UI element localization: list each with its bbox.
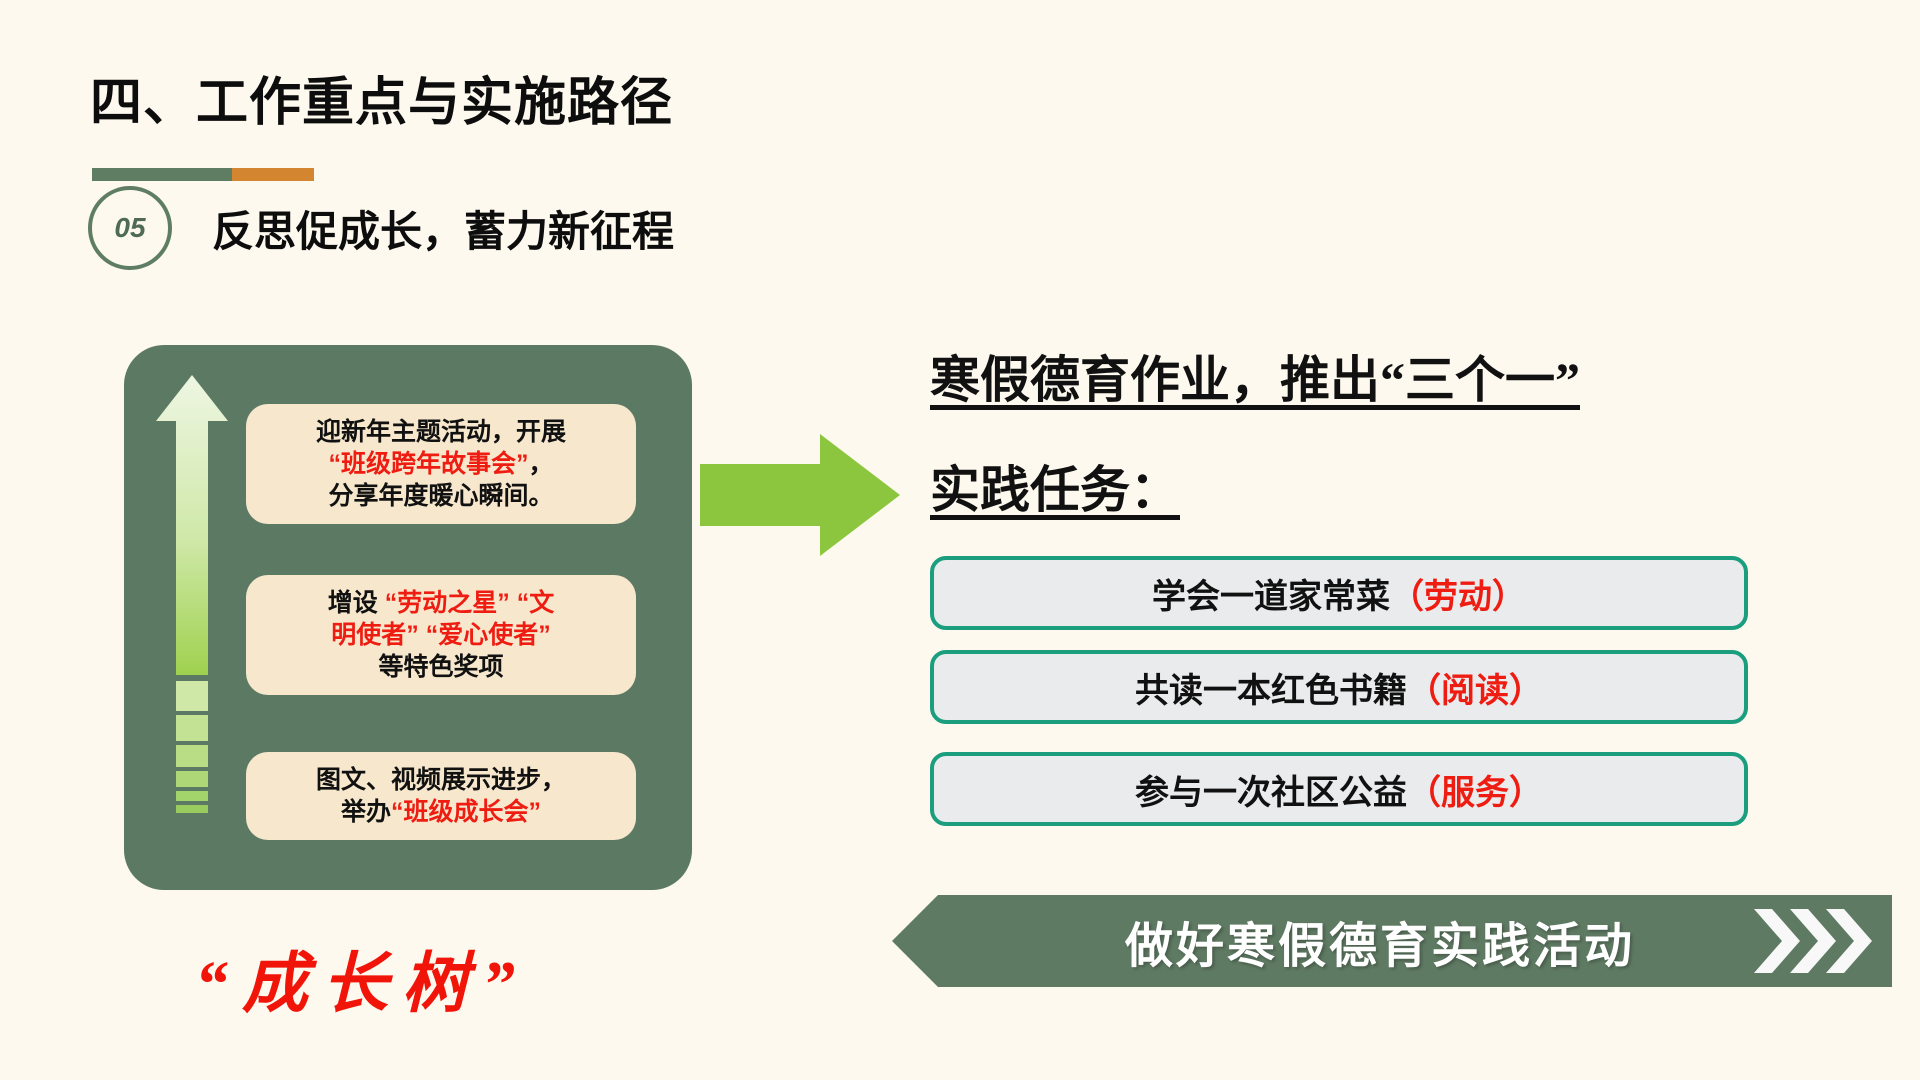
bottom-banner-text: 做好寒假德育实践活动 — [960, 905, 1800, 977]
section-subtitle: 反思促成长，蓄力新征程 — [212, 198, 674, 259]
task-item: 学会一道家常菜（劳动） — [930, 556, 1748, 630]
card-text: 举办 — [341, 798, 391, 826]
slide-canvas: 四、工作重点与实施路径 05 反思促成长，蓄力新征程 迎新年主题活动，开展 “班… — [0, 0, 1920, 1080]
card-highlight: “班级成长会” — [391, 798, 541, 826]
task-item: 参与一次社区公益（服务） — [930, 752, 1748, 826]
task-tag: （服务） — [1407, 765, 1543, 814]
task-item: 共读一本红色书籍（阅读） — [930, 650, 1748, 724]
task-tag: （劳动） — [1390, 569, 1526, 618]
task-text: 共读一本红色书籍 — [1135, 663, 1407, 712]
title-rule-green — [92, 168, 232, 181]
card-line: 举办“班级成长会” — [260, 796, 622, 828]
card-line-tail: ， — [529, 450, 554, 478]
growth-arrow-icon — [152, 375, 232, 815]
right-arrow-icon — [700, 430, 900, 560]
growth-card: 图文、视频展示进步， 举办“班级成长会” — [246, 752, 636, 840]
section-number-label: 05 — [114, 212, 145, 244]
right-heading-line2: 实践任务： — [930, 450, 1180, 522]
task-tag: （阅读） — [1407, 663, 1543, 712]
page-title: 四、工作重点与实施路径 — [90, 60, 673, 135]
card-line: 迎新年主题活动，开展 — [260, 416, 622, 448]
card-line: 图文、视频展示进步， — [260, 764, 622, 796]
card-text: 增设 — [328, 589, 378, 617]
growth-tree-label: “成长树” — [195, 930, 529, 1026]
card-highlight: “班级跨年故事会” — [328, 450, 528, 478]
task-text: 参与一次社区公益 — [1135, 765, 1407, 814]
title-rule-orange — [232, 168, 314, 181]
card-line: 等特色奖项 — [260, 651, 622, 683]
right-heading-line1: 寒假德育作业，推出“三个一” — [930, 340, 1580, 412]
task-text: 学会一道家常菜 — [1152, 569, 1390, 618]
card-highlight: “文 — [517, 589, 555, 617]
card-line: “班级跨年故事会”， — [260, 448, 622, 480]
card-highlight: 明使者” — [331, 621, 419, 649]
card-line: 明使者” “爱心使者” — [260, 619, 622, 651]
card-line: 分享年度暖心瞬间。 — [260, 480, 622, 512]
card-highlight: “爱心使者” — [426, 621, 551, 649]
card-highlight: “劳动之星” — [385, 589, 510, 617]
growth-card: 迎新年主题活动，开展 “班级跨年故事会”， 分享年度暖心瞬间。 — [246, 404, 636, 524]
section-number-badge: 05 — [88, 186, 172, 270]
card-line: 增设 “劳动之星” “文 — [260, 587, 622, 619]
growth-card: 增设 “劳动之星” “文 明使者” “爱心使者” 等特色奖项 — [246, 575, 636, 695]
